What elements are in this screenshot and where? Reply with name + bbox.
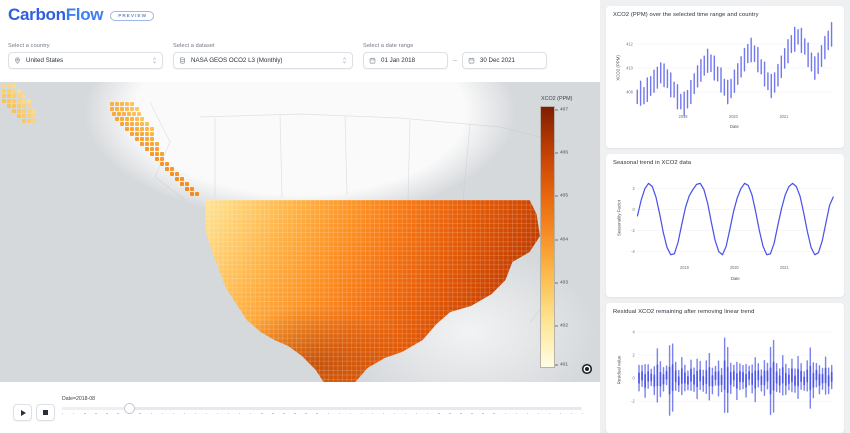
calendar-icon (468, 57, 475, 64)
svg-text:2021: 2021 (780, 265, 789, 270)
dataset-label: Select a dataset (173, 43, 353, 49)
svg-text:2020: 2020 (729, 114, 738, 119)
country-field: Select a country United States (8, 43, 163, 69)
preview-badge: PREVIEW (110, 11, 154, 22)
country-label: Select a country (8, 43, 163, 49)
chevron-updown-icon[interactable] (342, 56, 347, 65)
end-date-value: 30 Dec 2021 (480, 57, 541, 64)
svg-text:2019: 2019 (679, 114, 688, 119)
xco2-timeseries-panel: XCO2 (PPM) over the selected time range … (606, 6, 844, 148)
colorbar-tick-label: 407 (560, 107, 568, 112)
svg-text:2: 2 (632, 186, 635, 191)
colorbar-tick-label: 404 (560, 237, 568, 242)
location-pin-icon (14, 57, 21, 64)
end-date-input[interactable]: 30 Dec 2021 (462, 52, 547, 69)
svg-text:Residual value: Residual value (617, 355, 622, 384)
timeline-player: Date=2018-08 (0, 392, 600, 433)
xco2-timeseries-plot: 408410412201920202021DateXCO2 (PPM) (613, 20, 837, 132)
svg-text:-2: -2 (631, 399, 635, 404)
colorbar-tick-label: 403 (560, 280, 568, 285)
carbonflow-app: CarbonFlow PREVIEW Select a country Unit… (0, 0, 850, 433)
svg-text:-2: -2 (631, 228, 635, 233)
start-date-input[interactable]: 01 Jan 2018 (363, 52, 448, 69)
colorbar-tick-label: 401 (560, 363, 568, 368)
svg-text:2019: 2019 (680, 265, 689, 270)
dataset-value: NASA GEOS OCO2 L3 (Monthly) (191, 57, 337, 64)
xco2-timeseries-title: XCO2 (PPM) over the selected time range … (613, 12, 837, 18)
colorbar-tick-label: 405 (560, 194, 568, 199)
svg-text:410: 410 (626, 65, 633, 70)
choropleth-map[interactable] (0, 82, 600, 382)
residual-xco2-title: Residual XCO2 remaining after removing l… (613, 309, 837, 315)
svg-text:2020: 2020 (730, 265, 739, 270)
northwest-coast-raster-pixels (100, 100, 210, 205)
date-slider-label: Date=2018-08 (62, 396, 582, 402)
app-logo: CarbonFlow (8, 5, 103, 25)
date-slider-ticks (62, 413, 582, 421)
filter-controls: Select a country United States Select a … (0, 30, 600, 75)
colorbar-tick-label: 406 (560, 151, 568, 156)
svg-text:0: 0 (632, 375, 635, 380)
colorbar-tick-label: 402 (560, 324, 568, 329)
residual-xco2-panel: Residual XCO2 remaining after removing l… (606, 303, 844, 433)
date-slider-track[interactable] (62, 407, 582, 410)
main-panel: CarbonFlow PREVIEW Select a country Unit… (0, 0, 600, 433)
svg-text:4: 4 (632, 329, 635, 334)
logo-text-flow: Flow (66, 5, 104, 24)
stop-icon (43, 410, 48, 415)
country-value: United States (26, 57, 147, 64)
date-slider[interactable]: Date=2018-08 (62, 396, 582, 421)
play-icon (21, 410, 26, 416)
svg-text:XCO2 (PPM): XCO2 (PPM) (616, 55, 621, 81)
chevron-updown-icon[interactable] (152, 56, 157, 65)
play-button[interactable] (13, 404, 32, 421)
stop-button[interactable] (36, 404, 55, 421)
colorbar-gradient (540, 106, 555, 368)
svg-text:Date: Date (731, 276, 740, 281)
svg-text:-4: -4 (631, 249, 635, 254)
date-range-separator: – (453, 57, 457, 64)
date-slider-fill (62, 407, 130, 410)
residual-xco2-plot: 420-2Residual value (613, 317, 837, 421)
svg-text:Seasonality Factor: Seasonality Factor (617, 199, 622, 236)
country-select[interactable]: United States (8, 52, 163, 69)
seasonal-trend-title: Seasonal trend in XCO2 data (613, 160, 837, 166)
dataset-field: Select a dataset NASA GEOS OCO2 L3 (Mont… (173, 43, 353, 69)
logo-text-carbon: Carbon (8, 5, 66, 24)
xco2-colorbar: XCO2 (PPM) 407 406 405 404 403 402 401 (540, 96, 598, 368)
dataset-select[interactable]: NASA GEOS OCO2 L3 (Monthly) (173, 52, 353, 69)
app-header: CarbonFlow PREVIEW (0, 0, 600, 30)
seasonal-trend-panel: Seasonal trend in XCO2 data 20-2-4201920… (606, 154, 844, 297)
colorbar-ticks: 407 406 405 404 403 402 401 (555, 106, 595, 368)
charts-sidebar: XCO2 (PPM) over the selected time range … (600, 0, 850, 433)
start-date-value: 01 Jan 2018 (381, 57, 442, 64)
svg-text:408: 408 (626, 89, 633, 94)
database-icon (179, 57, 186, 64)
svg-text:0: 0 (632, 207, 635, 212)
date-range-label: Select a date range (363, 43, 547, 49)
date-range-field: Select a date range 01 Jan 2018 – (363, 43, 547, 69)
svg-text:2021: 2021 (779, 114, 788, 119)
colorbar-title: XCO2 (PPM) (541, 96, 598, 102)
svg-text:Date: Date (730, 124, 739, 129)
svg-text:2: 2 (632, 352, 635, 357)
calendar-icon (369, 57, 376, 64)
svg-text:412: 412 (626, 41, 633, 46)
seasonal-trend-plot: 20-2-4201920202021DateSeasonality Factor (613, 168, 837, 284)
